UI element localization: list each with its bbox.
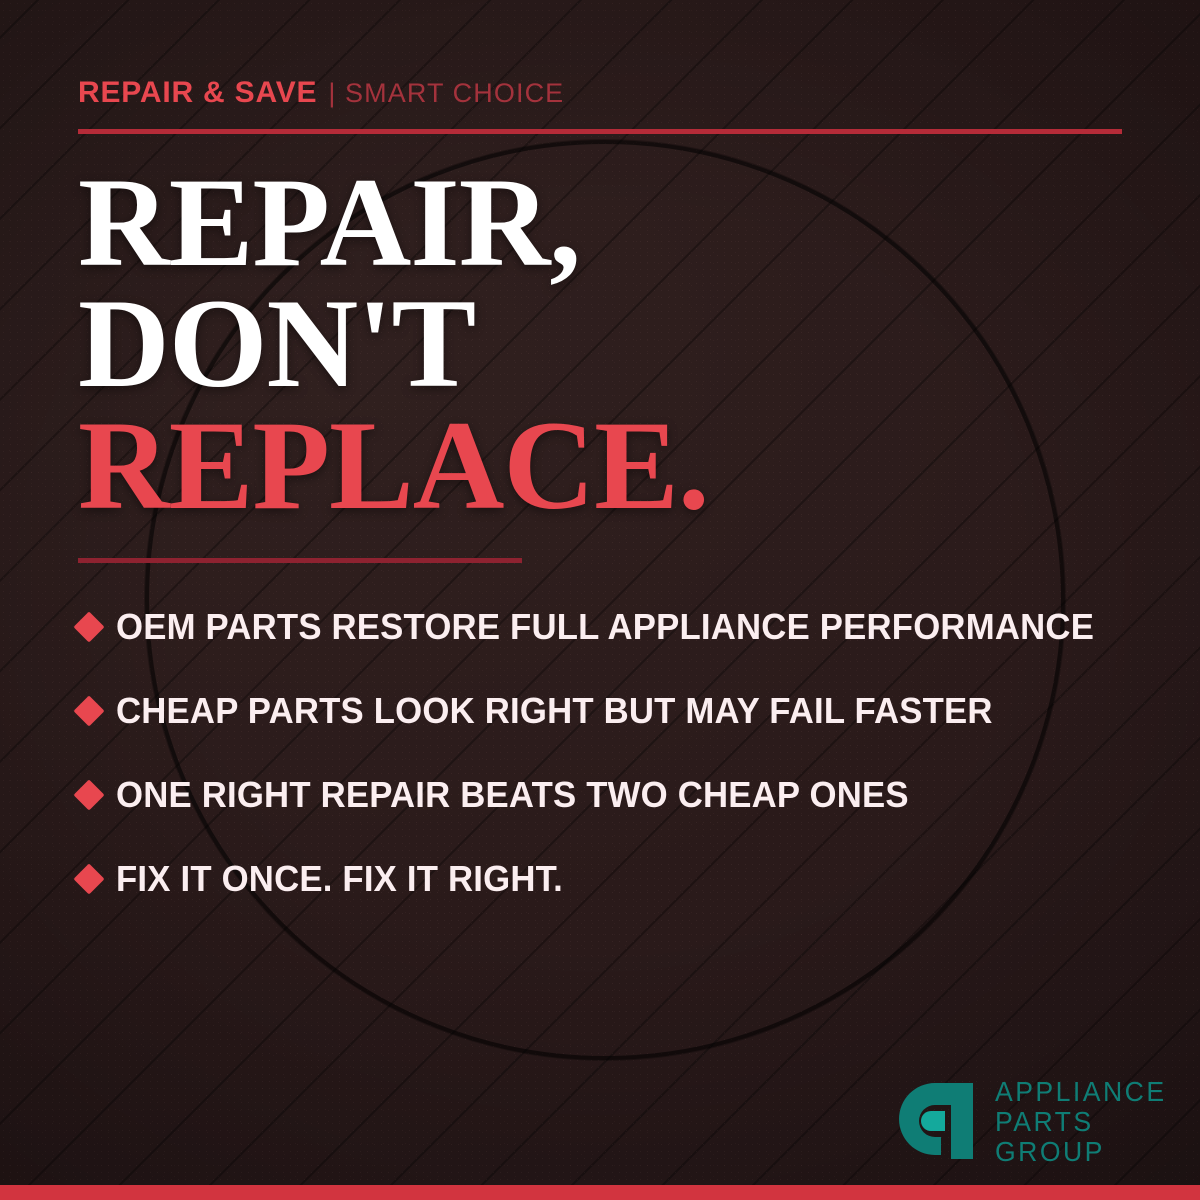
poster-canvas: REPAIR & SAVE | SMART CHOICE REPAIR, DON… xyxy=(0,0,1200,1200)
list-item: CHEAP PARTS LOOK RIGHT BUT MAY FAIL FAST… xyxy=(78,669,1148,753)
list-item: OEM PARTS RESTORE FULL APPLIANCE PERFORM… xyxy=(78,585,1148,669)
kicker-main-label: REPAIR & SAVE xyxy=(78,76,317,110)
list-item: FIX IT ONCE. FIX IT RIGHT. xyxy=(78,837,1148,921)
brand-logo: APPLIANCE PARTS GROUP xyxy=(889,1078,1176,1168)
headline-line-3: REPLACE. xyxy=(78,406,709,527)
brand-logo-line-3: GROUP xyxy=(995,1138,1167,1168)
g-monogram-icon xyxy=(889,1079,981,1168)
headline-divider-rule xyxy=(78,558,522,563)
diamond-icon xyxy=(73,695,104,726)
bottom-accent-bar xyxy=(0,1185,1200,1200)
diamond-icon xyxy=(73,863,104,894)
list-item-label: FIX IT ONCE. FIX IT RIGHT. xyxy=(116,858,563,900)
page-title: REPAIR, DON'T REPLACE. xyxy=(78,163,709,527)
headline-line-2: DON'T xyxy=(78,284,709,405)
header-divider-rule xyxy=(78,129,1122,134)
list-item-label: OEM PARTS RESTORE FULL APPLIANCE PERFORM… xyxy=(116,606,1094,648)
brand-logo-line-2: PARTS xyxy=(995,1108,1167,1138)
brand-logo-line-1: APPLIANCE xyxy=(995,1078,1167,1108)
headline-line-1: REPAIR, xyxy=(78,163,709,284)
brand-logo-wordmark: APPLIANCE PARTS GROUP xyxy=(995,1078,1176,1168)
kicker: REPAIR & SAVE | SMART CHOICE xyxy=(78,76,564,110)
diamond-icon xyxy=(73,611,104,642)
poster-content: REPAIR & SAVE | SMART CHOICE REPAIR, DON… xyxy=(0,0,1200,1200)
list-item-label: ONE RIGHT REPAIR BEATS TWO CHEAP ONES xyxy=(116,774,909,816)
list-item: ONE RIGHT REPAIR BEATS TWO CHEAP ONES xyxy=(78,753,1148,837)
kicker-sub-label: | SMART CHOICE xyxy=(328,78,564,109)
diamond-icon xyxy=(73,779,104,810)
list-item-label: CHEAP PARTS LOOK RIGHT BUT MAY FAIL FAST… xyxy=(116,690,993,732)
benefits-list: OEM PARTS RESTORE FULL APPLIANCE PERFORM… xyxy=(78,585,1148,921)
